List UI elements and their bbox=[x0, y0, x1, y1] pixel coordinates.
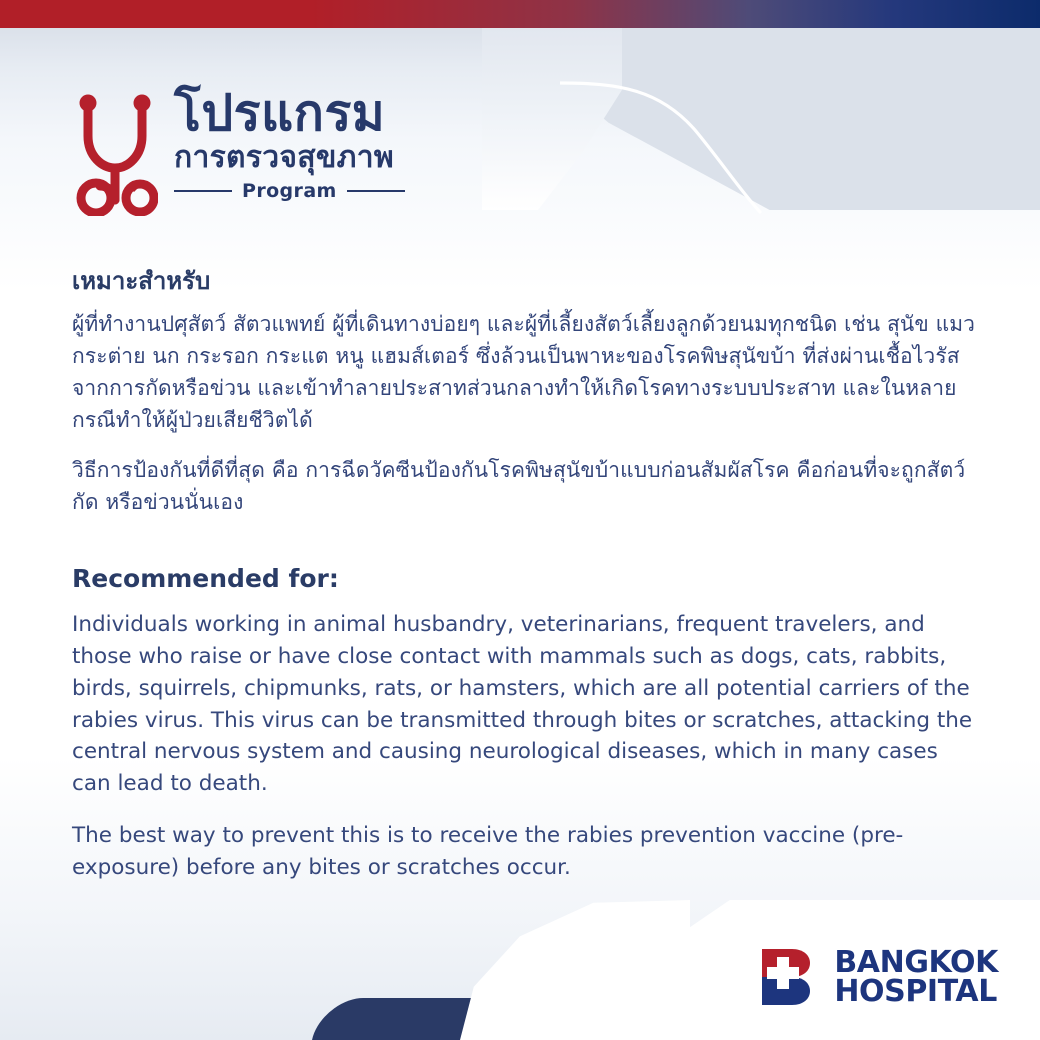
bangkok-hospital-logo: BANGKOK HOSPITAL bbox=[758, 946, 998, 1008]
english-heading: Recommended for: bbox=[72, 563, 982, 596]
stethoscope-icon bbox=[72, 88, 158, 220]
bangkok-hospital-wordmark: BANGKOK HOSPITAL bbox=[834, 948, 998, 1006]
poster-content: เหมาะสำหรับ ผู้ที่ทำงานปศุสัตว์ สัตวแพทย… bbox=[72, 266, 982, 884]
rule-right bbox=[347, 190, 405, 192]
poster-root: โปรแกรม การตรวจสุขภาพ Program เหมาะสำหรั… bbox=[0, 0, 1040, 1040]
decorative-sweep-line bbox=[560, 80, 820, 215]
hospital-name-line2: HOSPITAL bbox=[834, 977, 998, 1006]
program-label-row: Program bbox=[174, 180, 405, 202]
program-title-th-sub: การตรวจสุขภาพ bbox=[174, 141, 405, 176]
thai-paragraph-2: วิธีการป้องกันที่ดีที่สุด คือ การฉีดวัคซ… bbox=[72, 455, 982, 519]
thai-paragraph-1: ผู้ที่ทำงานปศุสัตว์ สัตวแพทย์ ผู้ที่เดิน… bbox=[72, 309, 982, 437]
program-title-block: โปรแกรม การตรวจสุขภาพ Program bbox=[174, 88, 405, 202]
program-label: Program bbox=[242, 180, 337, 202]
program-header: โปรแกรม การตรวจสุขภาพ Program bbox=[72, 88, 405, 220]
top-gradient-bar bbox=[0, 0, 1040, 28]
thai-heading: เหมาะสำหรับ bbox=[72, 266, 982, 297]
english-paragraph-1: Individuals working in animal husbandry,… bbox=[72, 609, 982, 800]
rule-left bbox=[174, 190, 232, 192]
hospital-name-line1: BANGKOK bbox=[834, 948, 998, 977]
program-title-th-main: โปรแกรม bbox=[174, 88, 405, 139]
english-paragraph-2: The best way to prevent this is to recei… bbox=[72, 820, 982, 884]
bangkok-hospital-cross-b-icon bbox=[758, 946, 820, 1008]
